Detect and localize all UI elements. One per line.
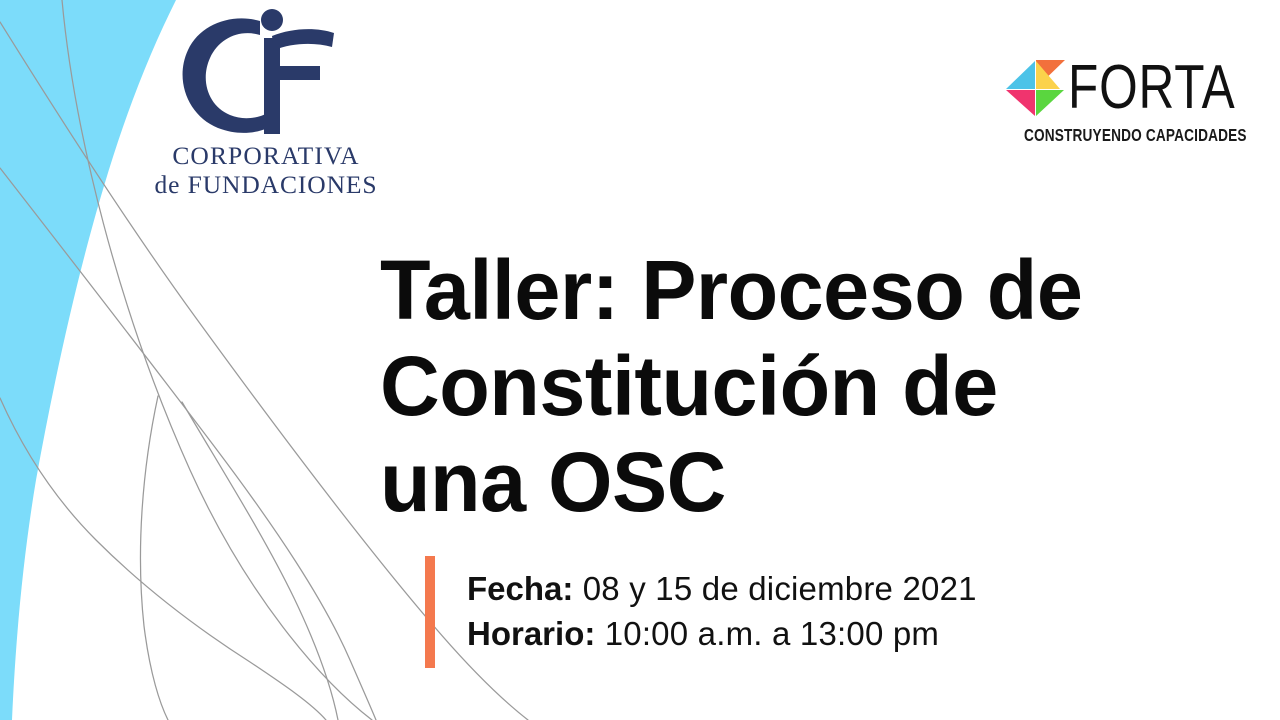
forta-triangle-mosaic-icon: [1000, 59, 1066, 117]
triangle-cyan: [1006, 61, 1035, 89]
cif-monogram-person-icon: [174, 8, 354, 138]
decor-curve-4: [140, 396, 168, 720]
slide-title: Taller: Proceso de Constitución de una O…: [380, 243, 1188, 530]
decor-curve-5: [0, 398, 326, 720]
forta-wordmark: FORTA: [1068, 62, 1236, 114]
cif-person-body: [264, 38, 280, 134]
slide-title-line-2: Constitución de: [380, 339, 1188, 435]
cif-logo: CORPORATIVA de FUNDACIONES: [150, 8, 382, 208]
cif-person-head: [261, 9, 283, 31]
presentation-slide: CORPORATIVA de FUNDACIONES FORTA CONSTRU…: [0, 0, 1280, 720]
triangle-magenta: [1006, 90, 1035, 116]
time-value: 10:00 a.m. a 13:00 pm: [595, 615, 939, 652]
cif-person-arm: [272, 29, 334, 50]
date-label: Fecha:: [467, 570, 573, 607]
details-accent-bar: [425, 556, 435, 668]
time-label: Horario:: [467, 615, 595, 652]
forta-tagline: CONSTRUYENDO CAPACIDADES: [1024, 125, 1194, 146]
slide-title-line-3: una OSC: [380, 435, 1188, 531]
date-value: 08 y 15 de diciembre 2021: [573, 570, 976, 607]
event-details: Fecha: 08 y 15 de diciembre 2021 Horario…: [425, 556, 977, 668]
cif-wordmark-line-2: de FUNDACIONES: [150, 170, 382, 199]
forta-logo-row: FORTA: [1000, 56, 1218, 120]
decor-curve-6: [182, 402, 338, 720]
slide-title-line-1: Taller: Proceso de: [380, 243, 1188, 339]
details-row-time: Horario: 10:00 a.m. a 13:00 pm: [467, 612, 977, 657]
details-row-date: Fecha: 08 y 15 de diciembre 2021: [467, 567, 977, 612]
cif-letter-f-crossbar: [271, 66, 320, 80]
cif-letter-c: [183, 18, 268, 132]
details-text-block: Fecha: 08 y 15 de diciembre 2021 Horario…: [467, 556, 977, 668]
cif-wordmark-line-1: CORPORATIVA: [150, 141, 382, 170]
triangle-green: [1036, 90, 1064, 116]
cif-wordmark: CORPORATIVA de FUNDACIONES: [150, 141, 382, 199]
decor-curve-3: [0, 168, 376, 720]
forta-logo: FORTA CONSTRUYENDO CAPACIDADES: [1000, 56, 1218, 152]
